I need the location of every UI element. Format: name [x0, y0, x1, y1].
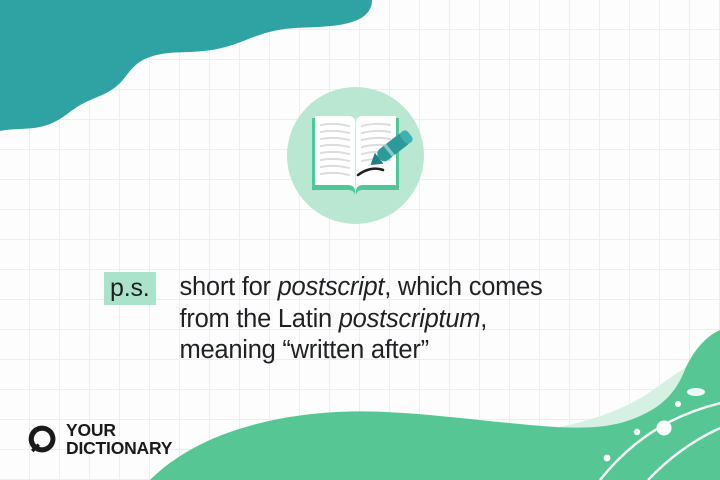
grid-paper-background: [0, 0, 720, 480]
brand-logo: YOUR DICTIONARY: [27, 421, 172, 457]
definition-row: p.s. short for postscript, which comes f…: [104, 272, 664, 367]
brand-wordmark: YOUR DICTIONARY: [66, 421, 172, 457]
definition-seg-italic: postscriptum: [339, 305, 481, 333]
definition-card: p.s. short for postscript, which comes f…: [0, 0, 720, 480]
brand-line-one: YOUR: [66, 421, 172, 439]
open-book-with-pen-icon: [287, 87, 424, 224]
term-highlight-chip: p.s.: [104, 272, 156, 305]
definition-seg: short for: [180, 273, 278, 301]
definition-line-2: from the Latin postscriptum,: [180, 305, 488, 333]
definition-text: short for postscript, which comes from t…: [180, 272, 543, 367]
definition-seg: from the Latin: [180, 305, 339, 333]
definition-seg: , which comes: [384, 273, 542, 301]
definition-block: p.s. short for postscript, which comes f…: [104, 272, 664, 367]
definition-seg-italic: postscript: [278, 273, 385, 301]
yourdictionary-circle-mark: [27, 424, 57, 454]
definition-seg: ,: [480, 305, 487, 333]
definition-line-3: meaning “written after”: [180, 336, 429, 364]
brand-line-two: DICTIONARY: [66, 439, 172, 457]
definition-line-1: short for postscript, which comes: [180, 273, 543, 301]
